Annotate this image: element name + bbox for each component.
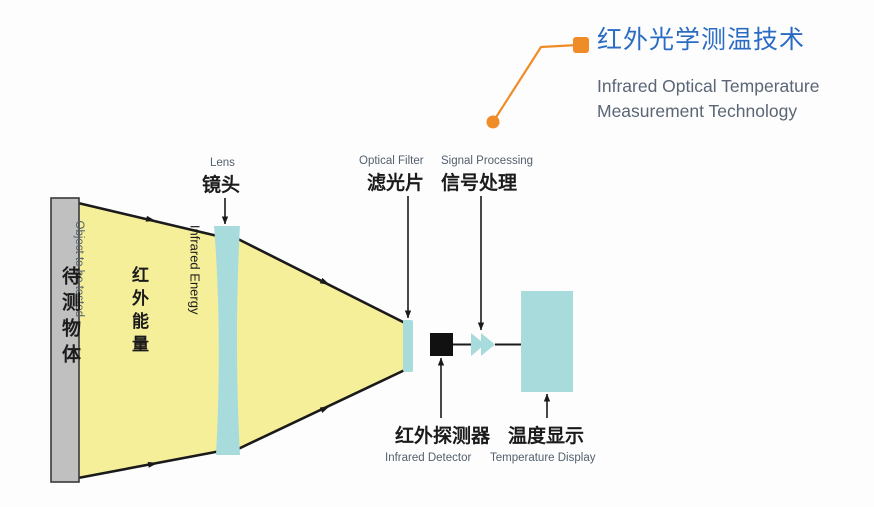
label-filter-cn: 滤光片 bbox=[367, 172, 424, 194]
label-signal-cn: 信号处理 bbox=[441, 172, 517, 194]
label-signal-en: Signal Processing bbox=[441, 155, 533, 169]
optical-filter bbox=[403, 320, 413, 372]
orange-dot-anchor bbox=[487, 116, 500, 129]
label-lens-en: Lens bbox=[210, 157, 235, 171]
converging-beam bbox=[236, 238, 409, 450]
label-display-en: Temperature Display bbox=[490, 452, 595, 466]
label-display-cn: 温度显示 bbox=[508, 425, 584, 447]
label-energy-cn: 红外能量 bbox=[126, 266, 151, 358]
label-lens-cn: 镜头 bbox=[202, 174, 240, 196]
callout-title-en: Infrared Optical Temperature Measurement… bbox=[597, 74, 847, 124]
temperature-display bbox=[521, 291, 573, 392]
callout-title-cn: 红外光学测温技术 bbox=[597, 26, 805, 56]
label-detector-en: Infrared Detector bbox=[385, 452, 471, 466]
orange-square-marker bbox=[573, 37, 589, 53]
label-filter-en: Optical Filter bbox=[359, 155, 424, 169]
diagram-canvas: 红外光学测温技术 Infrared Optical Temperature Me… bbox=[0, 0, 874, 507]
label-detector-cn: 红外探测器 bbox=[395, 425, 490, 447]
label-object-cn: 待测物体 bbox=[57, 266, 84, 370]
infrared-energy-beam bbox=[78, 203, 226, 478]
label-energy-en: Infrared Energy bbox=[187, 225, 202, 315]
signal-processing bbox=[471, 333, 495, 356]
callout-connector bbox=[487, 37, 590, 129]
infrared-detector bbox=[430, 333, 453, 356]
